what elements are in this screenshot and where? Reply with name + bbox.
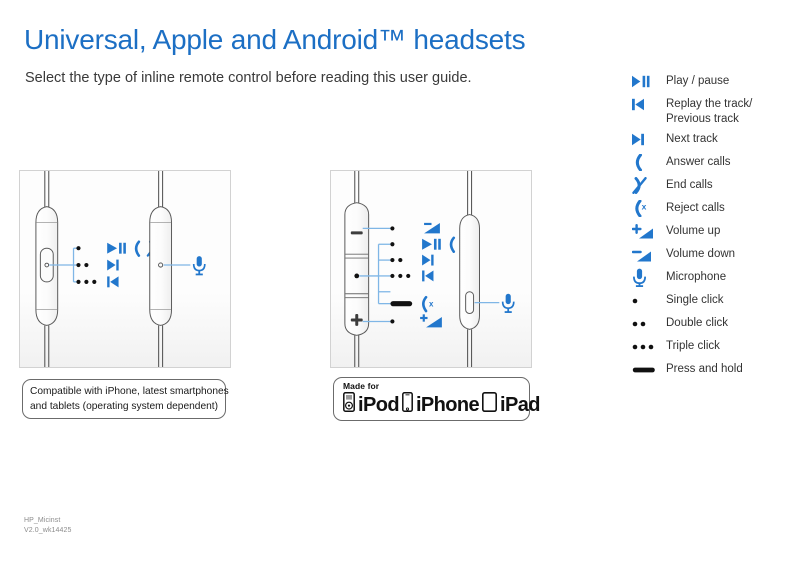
ipod-label: iPod	[358, 394, 399, 416]
reject-call-icon: x	[423, 297, 434, 311]
legend-item-triple-click: Triple click	[630, 337, 798, 356]
legend-label: End calls	[666, 176, 713, 193]
press-and-hold-icon	[630, 360, 666, 379]
ipod-icon	[343, 392, 355, 417]
caption-universal-line1: Compatible with iPhone, latest smartphon…	[30, 385, 218, 400]
legend-item-play-pause: Play / pause	[630, 72, 798, 91]
apple-device-list: iPod iPhone iPad	[343, 392, 521, 417]
caption-universal: Compatible with iPhone, latest smartphon…	[22, 379, 226, 419]
microphone-icon	[503, 294, 514, 313]
gesture-single-click-voldown	[390, 226, 394, 230]
universal-remote-capsule	[36, 171, 58, 367]
previous-track-icon	[630, 95, 666, 114]
universal-mic-capsule	[150, 171, 191, 367]
ipad-label: iPad	[500, 394, 540, 416]
gesture-press-and-hold	[390, 301, 412, 306]
legend-item-reject-calls: x Reject calls	[630, 199, 798, 218]
play-pause-icon	[630, 72, 666, 91]
legend-item-press-and-hold: Press and hold	[630, 360, 798, 379]
page-title: Universal, Apple and Android™ headsets	[24, 24, 525, 56]
made-for-apple-badge: Made for iPod iPhone iPad	[333, 377, 530, 421]
legend-label: Play / pause	[666, 72, 729, 89]
legend-item-previous-track: Replay the track/ Previous track	[630, 95, 798, 126]
previous-track-icon	[107, 276, 118, 287]
legend-item-single-click: Single click	[630, 291, 798, 310]
mic-slot	[466, 292, 474, 314]
gesture-triple-click	[390, 274, 410, 278]
legend-label: Microphone	[666, 268, 726, 285]
answer-call-icon	[136, 242, 139, 256]
volume-up-icon	[420, 314, 442, 327]
previous-track-icon	[422, 270, 433, 281]
made-for-label: Made for	[343, 381, 521, 391]
play-pause-icon	[422, 239, 441, 250]
legend-item-double-click: Double click	[630, 314, 798, 333]
answer-call-icon	[451, 238, 454, 252]
footer-line1: HP_Micinst	[24, 516, 72, 526]
gesture-double-click	[390, 258, 402, 262]
diagram-panel-apple: x	[330, 170, 532, 368]
microphone-icon	[630, 268, 666, 287]
next-track-icon	[630, 130, 666, 149]
iphone-label: iPhone	[416, 394, 479, 416]
diagram-panel-universal	[19, 170, 231, 368]
gesture-single-click-volup	[390, 319, 394, 323]
next-track-icon	[422, 255, 433, 266]
legend-label: Replay the track/ Previous track	[666, 95, 752, 126]
next-track-icon	[107, 260, 118, 271]
legend-item-end-calls: End calls	[630, 176, 798, 195]
triple-click-icon	[630, 337, 666, 356]
gesture-single-click	[76, 246, 80, 250]
legend-label: Press and hold	[666, 360, 743, 377]
legend-label: Next track	[666, 130, 718, 147]
legend-item-volume-down: Volume down	[630, 245, 798, 264]
volume-down-icon	[630, 245, 666, 264]
ipad-icon	[482, 392, 497, 417]
legend-item-volume-up: Volume up	[630, 222, 798, 241]
legend-label: Reject calls	[666, 199, 725, 216]
center-button	[354, 274, 359, 279]
microphone-icon	[194, 256, 205, 275]
legend-label: Volume up	[666, 222, 720, 239]
svg-text:x: x	[642, 202, 647, 212]
reject-call-icon: x	[630, 199, 666, 218]
legend: Play / pause Replay the track/ Previous …	[630, 72, 798, 383]
footer: HP_Micinst V2.0_wk14425	[24, 516, 72, 535]
iphone-icon	[402, 392, 413, 417]
footer-line2: V2.0_wk14425	[24, 526, 72, 536]
volume-down-icon	[424, 223, 440, 233]
gesture-single-click-center	[390, 242, 394, 246]
single-click-icon	[630, 291, 666, 310]
legend-label: Volume down	[666, 245, 735, 262]
apple-remote-capsule	[345, 171, 369, 367]
legend-item-answer-calls: Answer calls	[630, 153, 798, 172]
volume-down-button	[351, 231, 363, 234]
legend-item-next-track: Next track	[630, 130, 798, 149]
volume-up-icon	[630, 222, 666, 241]
double-click-icon	[630, 314, 666, 333]
legend-label: Single click	[666, 291, 724, 308]
answer-call-icon	[630, 153, 666, 172]
end-call-icon	[630, 176, 666, 195]
legend-item-microphone: Microphone	[630, 268, 798, 287]
legend-label: Answer calls	[666, 153, 731, 170]
svg-text:x: x	[429, 300, 434, 309]
page-subtitle: Select the type of inline remote control…	[25, 70, 472, 86]
legend-label: Double click	[666, 314, 728, 331]
play-pause-icon	[107, 243, 126, 254]
gesture-double-click	[76, 263, 88, 267]
apple-mic-capsule	[460, 171, 500, 367]
gesture-triple-click	[76, 280, 96, 284]
caption-universal-line2: and tablets (operating system dependent)	[30, 400, 218, 415]
legend-label: Triple click	[666, 337, 720, 354]
